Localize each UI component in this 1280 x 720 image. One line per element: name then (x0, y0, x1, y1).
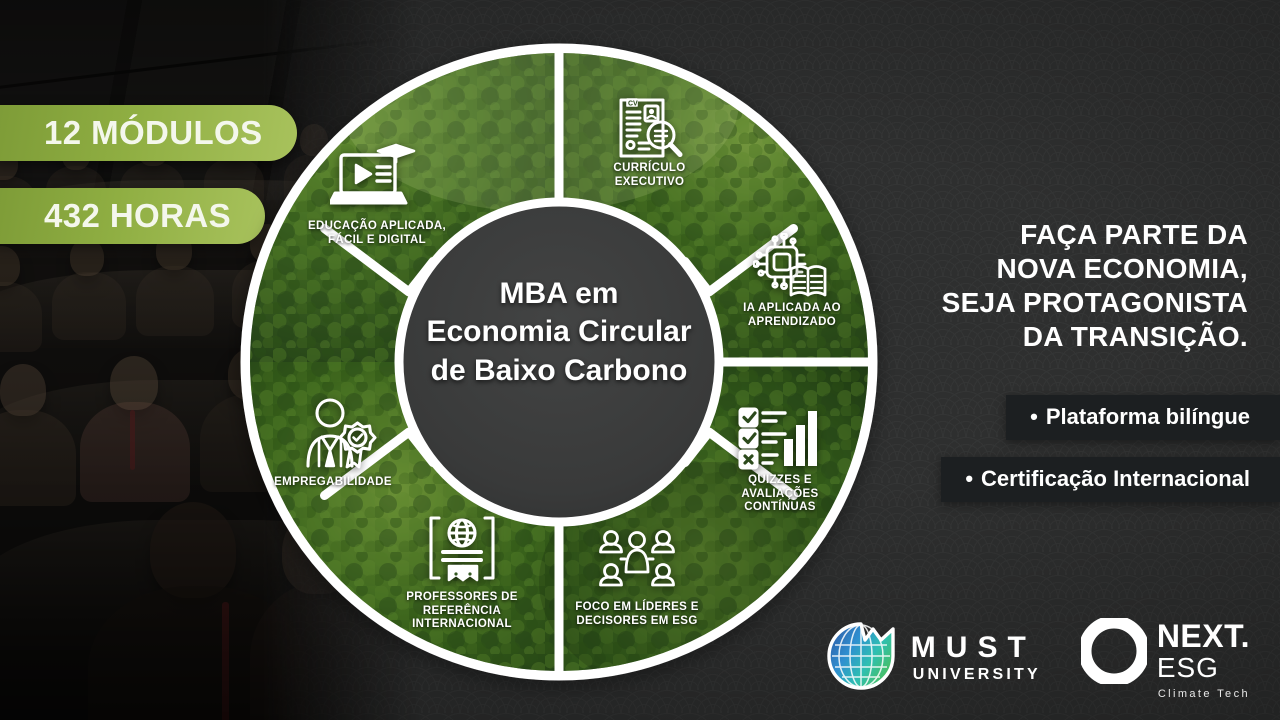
globe-gradient-icon (825, 620, 897, 697)
circular-wheel-diagram (239, 42, 879, 682)
must-wordmark: MUST UNIVERSITY (911, 633, 1041, 683)
feature-chip-certificacao: •Certificação Internacional (941, 457, 1280, 502)
must-university-logo: MUST UNIVERSITY (825, 620, 1041, 697)
poster-canvas: 12 MÓDULOS 432 HORAS (0, 0, 1280, 720)
headline-line-4: DA TRANSIÇÃO. (868, 320, 1248, 354)
next-sub: ESG (1157, 654, 1250, 682)
next-tagline: Climate Tech (1157, 689, 1250, 700)
headline-line-2: NOVA ECONOMIA, (868, 252, 1248, 286)
feature-chip-certificacao-label: Certificação Internacional (981, 466, 1250, 491)
wheel-inner-circle (399, 202, 719, 522)
feature-chip-plataforma: •Plataforma bilíngue (1006, 395, 1280, 440)
next-esg-logo: NEXT. ESG Climate Tech (1081, 616, 1250, 700)
bullet-icon: • (965, 466, 973, 491)
headline: FAÇA PARTE DA NOVA ECONOMIA, SEJA PROTAG… (868, 218, 1248, 354)
must-name: MUST (911, 633, 1041, 663)
headline-line-3: SEJA PROTAGONISTA (868, 286, 1248, 320)
next-wordmark: NEXT. ESG Climate Tech (1157, 616, 1250, 700)
next-name: NEXT. (1157, 620, 1250, 652)
headline-line-1: FAÇA PARTE DA (868, 218, 1248, 252)
feature-chip-plataforma-label: Plataforma bilíngue (1046, 404, 1250, 429)
must-sub: UNIVERSITY (913, 667, 1041, 683)
logo-row: MUST UNIVERSITY NEXT. ESG Climate Tech (825, 616, 1250, 700)
ring-circle-icon (1081, 618, 1147, 689)
feature-chip-list: •Plataforma bilíngue •Certificação Inter… (860, 395, 1280, 502)
badge-horas: 432 HORAS (0, 188, 265, 244)
bullet-icon: • (1030, 404, 1038, 429)
